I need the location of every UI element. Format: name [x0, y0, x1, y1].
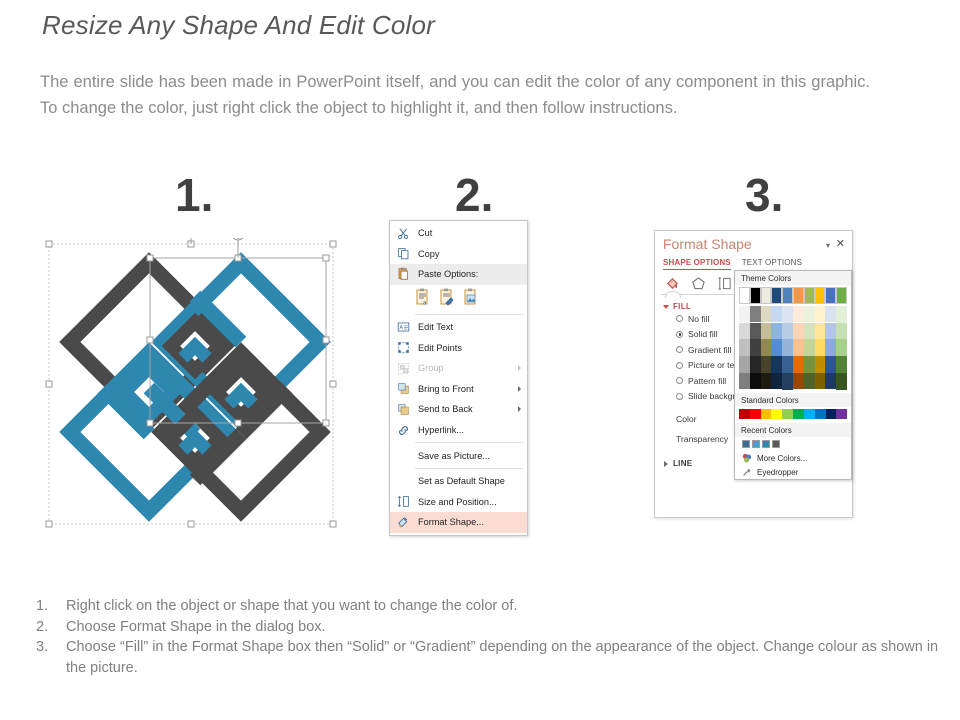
more-colors-icon	[742, 453, 752, 463]
recent-color-swatch[interactable]	[772, 440, 780, 448]
theme-color-swatch[interactable]	[793, 287, 804, 304]
standard-color-swatch[interactable]	[782, 409, 793, 420]
theme-color-swatch[interactable]	[771, 323, 782, 340]
theme-color-swatch[interactable]	[782, 339, 793, 356]
menu-item-label: Paste Options:	[413, 269, 478, 279]
menu-item-label: Edit Text	[413, 322, 453, 332]
textbox-layout-icon[interactable]	[717, 276, 732, 291]
theme-color-swatch[interactable]	[782, 323, 793, 340]
eyedropper-icon	[742, 467, 752, 477]
standard-color-swatch[interactable]	[815, 409, 826, 420]
color-label: Color	[676, 414, 697, 424]
paste-picture-icon[interactable]	[463, 288, 479, 308]
chevron-right-icon	[518, 365, 521, 371]
menu-item-send-to-back[interactable]: Send to Back	[390, 399, 527, 420]
context-menu[interactable]: Cut Copy Paste Options:	[389, 220, 528, 536]
standard-color-swatch[interactable]	[761, 409, 772, 420]
standard-color-swatch[interactable]	[836, 409, 847, 420]
theme-color-swatch[interactable]	[761, 356, 772, 373]
size-position-icon	[393, 494, 413, 510]
theme-color-swatch[interactable]	[793, 306, 804, 323]
menu-item-cut[interactable]: Cut	[390, 223, 527, 244]
more-colors-action[interactable]: More Colors...	[735, 451, 851, 465]
menu-item-label: Set as Default Shape	[413, 476, 505, 486]
theme-color-swatch[interactable]	[836, 339, 847, 356]
theme-color-swatch[interactable]	[804, 339, 815, 356]
menu-item-bring-to-front[interactable]: Bring to Front	[390, 379, 527, 400]
chevron-right-icon	[518, 386, 521, 392]
fill-option-label: Solid fill	[688, 329, 718, 339]
theme-color-swatch[interactable]	[761, 323, 772, 340]
menu-item-paste-options[interactable]: Paste Options:	[390, 264, 527, 285]
theme-color-swatch[interactable]	[825, 287, 836, 304]
paste-use-destination-theme-icon[interactable]	[439, 288, 455, 308]
theme-color-swatch[interactable]	[739, 339, 750, 356]
standard-colors-row[interactable]	[735, 407, 851, 424]
theme-color-swatch[interactable]	[761, 373, 772, 390]
menu-item-label: Hyperlink...	[413, 425, 464, 435]
theme-color-swatch[interactable]	[771, 306, 782, 323]
theme-color-swatch[interactable]	[739, 373, 750, 390]
instruction-text: Choose “Fill” in the Format Shape box th…	[66, 637, 941, 678]
menu-item-edit-points[interactable]: Edit Points	[390, 337, 527, 358]
more-colors-label: More Colors...	[757, 454, 807, 463]
step-number-3: 3.	[745, 168, 783, 222]
pentagon-effects-icon[interactable]	[691, 276, 706, 291]
theme-color-swatch[interactable]	[825, 339, 836, 356]
recent-color-swatch[interactable]	[742, 440, 750, 448]
theme-color-swatch[interactable]	[836, 287, 847, 304]
menu-item-size-and-position[interactable]: Size and Position...	[390, 492, 527, 513]
theme-color-swatch[interactable]	[793, 339, 804, 356]
menu-item-set-as-default-shape[interactable]: Set as Default Shape	[390, 471, 527, 492]
instruction-row: 1.Right click on the object or shape tha…	[36, 596, 941, 617]
standard-color-swatch[interactable]	[771, 409, 782, 420]
step-number-2: 2.	[455, 168, 493, 222]
eyedropper-action[interactable]: Eyedropper	[735, 465, 851, 479]
recent-color-swatch[interactable]	[752, 440, 760, 448]
page-subtitle: The entire slide has been made in PowerP…	[40, 70, 870, 121]
step-number-1: 1.	[175, 168, 213, 222]
instruction-row: 2.Choose Format Shape in the dialog box.	[36, 617, 941, 638]
theme-color-swatch[interactable]	[750, 373, 761, 390]
theme-color-swatch[interactable]	[739, 287, 750, 304]
theme-color-swatch[interactable]	[771, 339, 782, 356]
theme-color-swatch[interactable]	[739, 356, 750, 373]
fill-section-label: FILL	[673, 302, 691, 311]
theme-color-swatch[interactable]	[815, 323, 826, 340]
theme-color-swatch[interactable]	[750, 323, 761, 340]
triangle-collapsed-icon	[664, 461, 668, 467]
color-picker-flyout[interactable]: Theme Colors Standard Colors Recent Colo…	[734, 270, 852, 480]
svg-text:A: A	[399, 325, 403, 331]
close-icon[interactable]: ✕	[836, 237, 845, 250]
theme-color-swatch[interactable]	[750, 287, 761, 304]
theme-color-swatch[interactable]	[782, 373, 793, 390]
transparency-label: Transparency	[676, 434, 728, 444]
radio-button[interactable]	[676, 393, 683, 400]
menu-item-label: Copy	[413, 249, 439, 259]
menu-separator	[415, 468, 523, 469]
recent-colors-label: Recent Colors	[735, 423, 851, 437]
format-shape-tabs[interactable]: SHAPE OPTIONS TEXT OPTIONS	[655, 257, 852, 270]
theme-color-swatch[interactable]	[804, 323, 815, 340]
tab-text-options[interactable]: TEXT OPTIONS	[742, 258, 802, 270]
theme-color-swatch[interactable]	[771, 373, 782, 390]
theme-color-swatch[interactable]	[825, 356, 836, 373]
copy-icon	[393, 246, 413, 262]
theme-color-swatch[interactable]	[771, 287, 782, 304]
theme-color-swatch[interactable]	[782, 287, 793, 304]
tab-shape-options[interactable]: SHAPE OPTIONS	[663, 258, 731, 270]
theme-color-swatch[interactable]	[750, 339, 761, 356]
standard-color-swatch[interactable]	[826, 409, 837, 420]
menu-item-label: Size and Position...	[413, 497, 497, 507]
group-icon	[393, 360, 413, 376]
instruction-text: Choose Format Shape in the dialog box.	[66, 617, 941, 638]
theme-color-swatch[interactable]	[761, 287, 772, 304]
instruction-text: Right click on the object or shape that …	[66, 596, 941, 617]
theme-color-swatch[interactable]	[815, 339, 826, 356]
shape-illustration-panel	[45, 238, 337, 530]
fill-option-label: Pattern fill	[688, 376, 726, 386]
standard-color-swatch[interactable]	[804, 409, 815, 420]
theme-color-swatch[interactable]	[804, 287, 815, 304]
eyedropper-label: Eyedropper	[757, 468, 798, 477]
theme-colors-label: Theme Colors	[735, 271, 851, 285]
theme-color-swatch[interactable]	[836, 356, 847, 373]
menu-item-save-as-picture[interactable]: Save as Picture...	[390, 445, 527, 466]
recent-colors-row[interactable]	[735, 437, 851, 451]
fill-bucket-icon[interactable]	[665, 276, 680, 291]
theme-color-swatch[interactable]	[782, 356, 793, 373]
edit-text-icon: A	[393, 319, 413, 335]
theme-color-swatch[interactable]	[793, 323, 804, 340]
chevron-right-icon	[518, 406, 521, 412]
theme-color-swatch[interactable]	[793, 373, 804, 390]
send-to-back-icon	[393, 401, 413, 417]
theme-color-swatch[interactable]	[761, 339, 772, 356]
chevron-down-icon[interactable]: ▾	[826, 241, 830, 250]
menu-separator	[415, 314, 523, 315]
menu-item-label: Send to Back	[413, 404, 473, 414]
fill-option-label: No fill	[688, 314, 710, 324]
format-shape-titlebar: Format Shape ▾ ✕	[655, 231, 852, 257]
scissors-icon	[393, 225, 413, 241]
hyperlink-icon	[393, 422, 413, 438]
standard-color-swatch[interactable]	[793, 409, 804, 420]
standard-colors-label: Standard Colors	[735, 393, 851, 407]
theme-color-swatch[interactable]	[825, 373, 836, 390]
page-title: Resize Any Shape And Edit Color	[42, 10, 435, 41]
theme-color-swatch[interactable]	[815, 287, 826, 304]
line-section-label: LINE	[673, 459, 692, 468]
menu-item-hyperlink[interactable]: Hyperlink...	[390, 420, 527, 441]
paste-keep-source-formatting-icon[interactable]: a	[415, 288, 431, 308]
theme-color-swatch[interactable]	[836, 306, 847, 323]
paste-icon	[393, 266, 413, 282]
rotation-handle-outer[interactable]	[186, 238, 197, 244]
menu-item-group[interactable]: Group	[390, 358, 527, 379]
theme-color-swatch[interactable]	[815, 356, 826, 373]
menu-separator	[415, 442, 523, 443]
theme-color-swatch[interactable]	[782, 306, 793, 323]
menu-item-copy[interactable]: Copy	[390, 244, 527, 265]
format-shape-icon	[393, 514, 413, 530]
fill-option-label: Gradient fill	[688, 345, 731, 355]
menu-item-label: Bring to Front	[413, 384, 474, 394]
instruction-number: 1.	[36, 596, 66, 617]
theme-color-swatch[interactable]	[739, 323, 750, 340]
theme-color-swatch[interactable]	[761, 306, 772, 323]
theme-color-swatch[interactable]	[750, 356, 761, 373]
menu-item-label: Group	[413, 363, 444, 373]
theme-color-swatch[interactable]	[825, 323, 836, 340]
instruction-row: 3.Choose “Fill” in the Format Shape box …	[36, 637, 941, 678]
bring-to-front-icon	[393, 381, 413, 397]
radio-button[interactable]	[676, 315, 683, 322]
instruction-number: 3.	[36, 637, 66, 678]
theme-color-swatch[interactable]	[739, 306, 750, 323]
menu-item-edit-text[interactable]: A Edit Text	[390, 317, 527, 338]
instruction-number: 2.	[36, 617, 66, 638]
radio-button-selected[interactable]	[676, 331, 683, 338]
recent-color-swatch[interactable]	[762, 440, 770, 448]
radio-button[interactable]	[676, 362, 683, 369]
theme-color-swatch[interactable]	[750, 306, 761, 323]
radio-button[interactable]	[676, 346, 683, 353]
paste-options-row[interactable]: a	[390, 285, 527, 312]
standard-color-swatch[interactable]	[750, 409, 761, 420]
theme-color-swatch[interactable]	[825, 306, 836, 323]
theme-color-swatch[interactable]	[804, 356, 815, 373]
edit-points-icon	[393, 340, 413, 356]
instructions-list: 1.Right click on the object or shape tha…	[36, 596, 941, 678]
radio-button[interactable]	[676, 377, 683, 384]
theme-color-swatch[interactable]	[836, 373, 847, 390]
menu-item-label: Format Shape...	[413, 517, 484, 527]
theme-color-swatch[interactable]	[793, 356, 804, 373]
theme-color-swatch[interactable]	[771, 356, 782, 373]
menu-item-format-shape[interactable]: Format Shape...	[390, 512, 527, 533]
triangle-expanded-icon	[663, 305, 669, 309]
theme-color-swatch[interactable]	[804, 373, 815, 390]
format-shape-title: Format Shape	[663, 236, 752, 252]
menu-item-label: Cut	[413, 228, 432, 238]
theme-color-swatch[interactable]	[836, 323, 847, 340]
menu-item-label: Save as Picture...	[413, 451, 490, 461]
theme-color-swatch[interactable]	[815, 373, 826, 390]
theme-color-swatch[interactable]	[804, 306, 815, 323]
interlocking-diamonds-graphic[interactable]	[45, 238, 337, 530]
theme-color-swatch[interactable]	[815, 306, 826, 323]
standard-color-swatch[interactable]	[739, 409, 750, 420]
menu-item-label: Edit Points	[413, 343, 462, 353]
theme-colors-grid[interactable]	[735, 285, 851, 393]
